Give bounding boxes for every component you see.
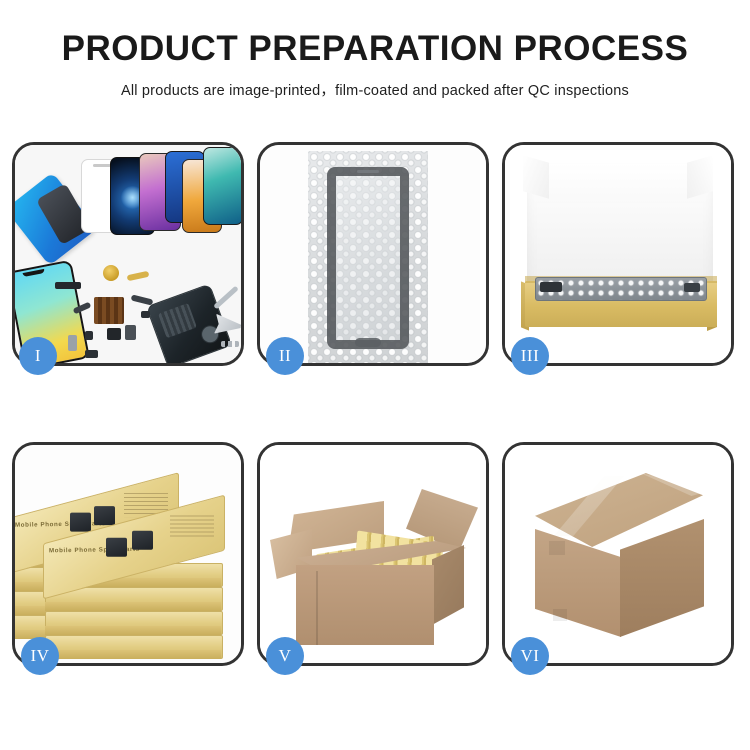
box-flap-right-icon	[687, 155, 713, 198]
kraft-box-layer	[45, 635, 223, 659]
step-5-image	[260, 445, 486, 663]
box-spec-lines-icon	[170, 515, 214, 539]
step-badge-6: VI	[511, 637, 549, 675]
box-screen-print-icon	[70, 513, 91, 532]
wrapped-screen-icon	[535, 277, 707, 301]
step-badge-5: V	[266, 637, 304, 675]
camera-module-icon	[107, 328, 121, 340]
process-step-4[interactable]: Mobile Phone Spare Parts Mobile Phone Sp…	[12, 442, 244, 666]
battery-part-icon	[125, 325, 136, 340]
logic-board-icon	[94, 297, 124, 324]
small-component-icon	[141, 311, 150, 318]
bubble-wrap-icon	[308, 151, 428, 363]
process-step-1[interactable]: I	[12, 142, 244, 366]
box-screen-print-icon	[94, 506, 115, 525]
white-foam-lining-icon	[527, 163, 713, 291]
box-screen-print-icon	[132, 531, 153, 550]
step-badge-4: IV	[21, 637, 59, 675]
step-badge-1: I	[19, 337, 57, 375]
step-badge-3: III	[511, 337, 549, 375]
process-grid: I II III	[12, 142, 738, 666]
step-4-image: Mobile Phone Spare Parts Mobile Phone Sp…	[15, 445, 241, 663]
header: PRODUCT PREPARATION PROCESS All products…	[0, 0, 750, 100]
kraft-box-layer	[45, 611, 223, 635]
process-step-6[interactable]: VI	[502, 442, 734, 666]
step-badge-2: II	[266, 337, 304, 375]
process-step-5[interactable]: V	[257, 442, 489, 666]
box-screen-print-icon	[106, 538, 127, 557]
phone-glass-lens-icon	[327, 167, 409, 349]
process-step-2[interactable]: II	[257, 142, 489, 366]
carton-mark-icon	[553, 609, 567, 621]
page-subtitle: All products are image-printed，film-coat…	[0, 79, 750, 100]
process-step-3[interactable]: III	[502, 142, 734, 366]
teal-phone-icon	[203, 147, 241, 225]
step-2-image	[260, 145, 486, 363]
step-3-image	[505, 145, 731, 363]
box-label-text: Mobile Phone Spare Parts	[15, 520, 106, 529]
page-title: PRODUCT PREPARATION PROCESS	[0, 30, 750, 69]
step-6-image	[505, 445, 731, 663]
small-component-icon	[85, 350, 98, 358]
box-stack-icon: Mobile Phone Spare Parts Mobile Phone Sp…	[15, 455, 241, 655]
box-flap-left-icon	[523, 155, 549, 198]
step-1-image	[15, 145, 241, 363]
carton-mark-icon	[549, 541, 565, 555]
sim-tray-icon	[68, 335, 77, 351]
vibrator-coil-icon	[103, 265, 119, 281]
speaker-part-icon	[55, 282, 81, 289]
screws-icon	[221, 341, 239, 347]
small-component-icon	[85, 331, 93, 340]
carton-front-icon	[296, 565, 434, 645]
poster-root: PRODUCT PREPARATION PROCESS All products…	[0, 0, 750, 750]
